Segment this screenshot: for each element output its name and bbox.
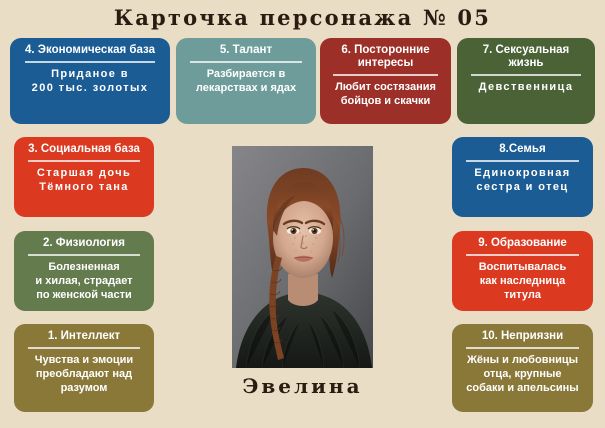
- card-heading: 9. Образование: [458, 236, 587, 253]
- card-economic-base[interactable]: 4. Экономическая база Приданое в200 тыс.…: [10, 38, 170, 124]
- portrait-photo: [232, 146, 373, 368]
- card-heading: 1. Интеллект: [20, 329, 148, 346]
- card-talent[interactable]: 5. Талант Разбирается влекарствах и ядах: [176, 38, 316, 124]
- card-body: Старшая дочьТёмного тана: [20, 166, 148, 194]
- card-body: Приданое в200 тыс. золотых: [16, 67, 164, 95]
- character-portrait: [232, 146, 373, 368]
- card-divider: [28, 160, 141, 162]
- card-divider: [466, 347, 580, 349]
- card-heading: 3. Социальная база: [20, 142, 148, 159]
- card-divider: [466, 254, 580, 256]
- card-heading: 7. Сексуальная жизнь: [463, 43, 589, 73]
- character-name: Эвелина: [0, 374, 605, 398]
- card-divider: [28, 254, 141, 256]
- card-divider: [471, 74, 582, 76]
- card-divider: [333, 74, 438, 76]
- card-outside-interests[interactable]: 6. Посторонние интересы Любит состязания…: [320, 38, 451, 124]
- card-body: Воспитываласькак наследницатитула: [458, 260, 587, 302]
- card-heading: 2. Физиология: [20, 236, 148, 253]
- card-heading: 10. Неприязни: [458, 329, 587, 346]
- card-social-base[interactable]: 3. Социальная база Старшая дочьТёмного т…: [14, 137, 154, 217]
- card-body: Любит состязаниябойцов и скачки: [326, 80, 445, 108]
- card-body: Разбирается влекарствах и ядах: [182, 67, 310, 95]
- card-physiology[interactable]: 2. Физиология Болезненнаяи хилая, страда…: [14, 231, 154, 311]
- card-dislikes[interactable]: 10. Неприязни Жёны и любовницыотца, круп…: [452, 324, 593, 412]
- card-body: Болезненнаяи хилая, страдаетпо женской ч…: [20, 260, 148, 302]
- card-sexual-life[interactable]: 7. Сексуальная жизнь Девственница: [457, 38, 595, 124]
- card-heading: 4. Экономическая база: [16, 43, 164, 60]
- card-divider: [28, 347, 141, 349]
- card-divider: [25, 61, 155, 63]
- card-heading: 6. Посторонние интересы: [326, 43, 445, 73]
- card-intellect[interactable]: 1. Интеллект Чувства и эмоциипреобладают…: [14, 324, 154, 412]
- card-divider: [466, 160, 580, 162]
- card-body: Девственница: [463, 80, 589, 94]
- card-family[interactable]: 8.Семья Единокровнаясестра и отец: [452, 137, 593, 217]
- card-heading: 5. Талант: [182, 43, 310, 60]
- card-body: Единокровнаясестра и отец: [458, 166, 587, 194]
- card-divider: [190, 61, 303, 63]
- card-education[interactable]: 9. Образование Воспитываласькак наследни…: [452, 231, 593, 311]
- card-heading: 8.Семья: [458, 142, 587, 159]
- character-card-sheet: Карточка персонажа № 05 4. Экономическая…: [0, 0, 605, 428]
- page-title: Карточка персонажа № 05: [0, 5, 605, 30]
